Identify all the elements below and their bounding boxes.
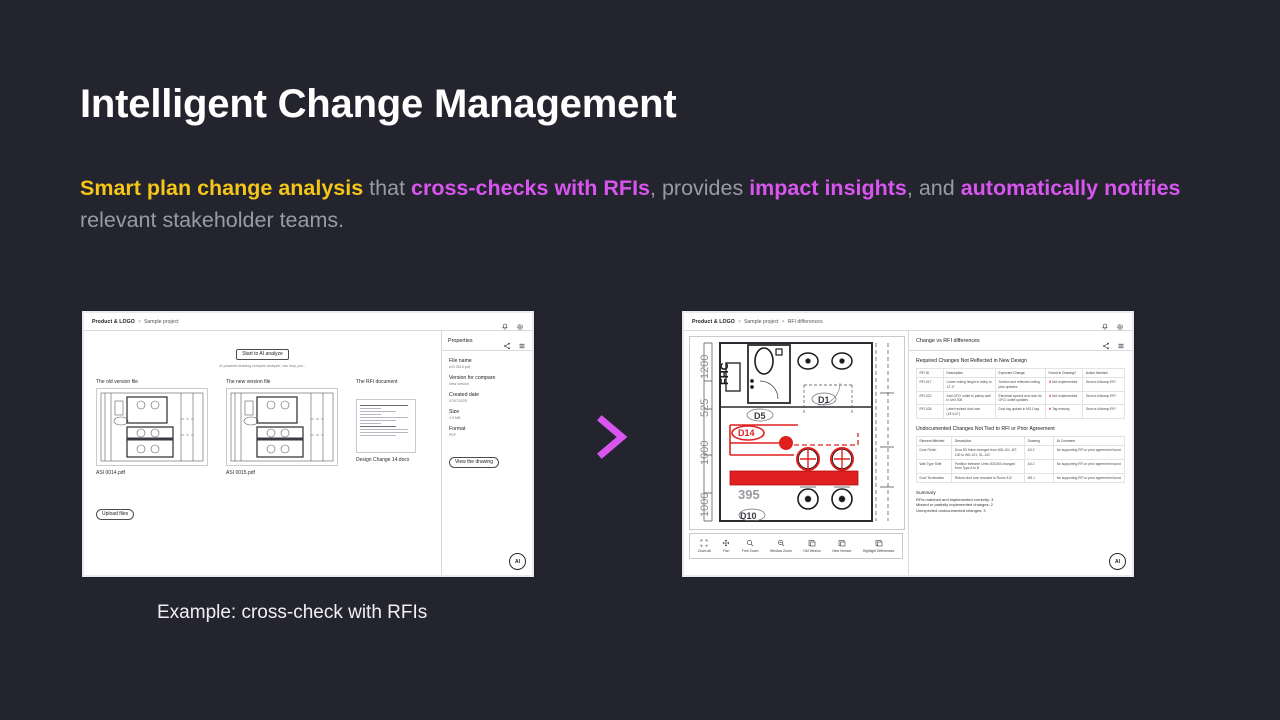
table-header-row: RFI ID Description Expected Change Found… <box>917 369 1125 378</box>
right-app-window: Product & LOGO > Sample project > RFI di… <box>682 311 1134 577</box>
cell-action: Send a followup RFI <box>1083 378 1125 392</box>
upload-files-button[interactable]: Upload files <box>96 509 134 520</box>
doc-line <box>360 411 396 412</box>
section-title-required-changes: Required Changes Not Reflected in New De… <box>916 358 1125 364</box>
cell-rfi-id: RFI-017 <box>917 378 944 392</box>
new-version-thumbnail[interactable] <box>226 388 338 466</box>
window-zoom-icon <box>777 539 785 547</box>
dim-1200: 1200 <box>699 355 711 379</box>
col-expected-change: Expected Change <box>996 369 1046 378</box>
svg-text:395: 395 <box>738 487 760 502</box>
analysis-panel-body: Required Changes Not Reflected in New De… <box>909 351 1132 513</box>
rfi-document-label: The RFI document <box>356 379 416 385</box>
cell-expected: Duct tag update in M3.1 tag <box>996 405 1046 419</box>
cell-drawing: A3.2 <box>1025 446 1054 460</box>
gear-icon[interactable] <box>1116 318 1124 326</box>
view-the-drawing-button[interactable]: View the drawing <box>449 457 499 468</box>
breadcrumb-sample-project[interactable]: Sample project <box>744 319 779 325</box>
cell-rfi-id: RFI-022 <box>917 391 944 405</box>
doc-line <box>360 420 396 421</box>
left-app-window: Product & LOGO > Sample project Start to… <box>82 311 534 577</box>
breadcrumb-separator-2: > <box>782 319 785 325</box>
highlight-diff-icon <box>875 539 883 547</box>
rfi-analysis-panel: Change vs RFI differences Required Chang… <box>909 331 1132 575</box>
menu-icon[interactable] <box>518 337 526 345</box>
left-brand-logo[interactable]: Product & LOGO <box>92 319 135 325</box>
col-rfi-id: RFI ID <box>917 369 944 378</box>
new-version-file-card[interactable]: The new version file <box>226 379 338 476</box>
doc-line <box>360 432 408 433</box>
old-version-icon <box>808 539 816 547</box>
svg-text:D5: D5 <box>754 411 766 421</box>
cell-found: ✕ Tag missing <box>1045 405 1082 419</box>
drawing-viewport-container: 1200 525 1000 1000 FHC D5 D1 D14 D10 395 <box>684 331 909 575</box>
property-value: PDF <box>449 433 525 437</box>
share-icon[interactable] <box>1102 337 1110 345</box>
table-row[interactable]: Wall Type Shift Partition between Units … <box>917 459 1125 473</box>
tool-pan[interactable]: Pan <box>722 539 730 553</box>
doc-line <box>360 429 408 430</box>
dim-525: 525 <box>699 399 711 417</box>
tool-label: Highlight Differences <box>863 549 894 553</box>
x-icon: ✕ <box>1048 394 1051 398</box>
found-text: Not Implemented <box>1052 394 1077 398</box>
chevron-right-icon <box>592 414 634 460</box>
col-found-in-drawing: Found in Drawing? <box>1045 369 1082 378</box>
left-window-body: Start to AI analyze AI powered drawing c… <box>84 331 532 575</box>
cell-drawing: M3.1 <box>1025 473 1054 482</box>
analyze-section: Start to AI analyze AI powered drawing c… <box>84 342 441 368</box>
cell-expected: Section and reflected ceiling plan updat… <box>996 378 1046 392</box>
pan-icon <box>722 539 730 547</box>
tool-label: New Version <box>832 549 851 553</box>
summary-line-unexpected: Unexpected undocumented changes: 3 <box>916 508 1125 513</box>
properties-header: Properties <box>442 331 532 351</box>
doc-line <box>360 435 396 436</box>
start-ai-analyze-button[interactable]: Start to AI analyze <box>236 349 289 360</box>
subtitle-part-that: that <box>363 176 411 200</box>
properties-list: File name ASI 0015.pdf Version for compa… <box>442 351 532 437</box>
free-zoom-icon <box>746 539 754 547</box>
properties-title: Properties <box>448 338 473 344</box>
tool-window-zoom[interactable]: Window Zoom <box>770 539 792 553</box>
property-key: Format <box>449 426 525 432</box>
new-version-filename: ASI 0015.pdf <box>226 470 338 476</box>
old-version-thumbnail[interactable] <box>96 388 208 466</box>
file-compare-row: The old version file <box>96 379 431 476</box>
share-icon[interactable] <box>503 337 511 345</box>
cell-expected: Electrical symbol and note for GFCI outl… <box>996 391 1046 405</box>
left-topbar-actions <box>501 318 524 326</box>
old-version-file-card[interactable]: The old version file <box>96 379 208 476</box>
table-row[interactable]: Duct Termination Return duct now reroute… <box>917 473 1125 482</box>
cell-description: Door D5 finish changed from WD-101, MT-1… <box>952 446 1025 460</box>
ai-badge[interactable]: AI <box>509 553 526 570</box>
rfi-document-thumbnail[interactable] <box>356 399 416 453</box>
tool-label: Window Zoom <box>770 549 792 553</box>
tool-label: Pan <box>723 549 729 553</box>
undocumented-changes-table: Element Affected Description Drawing AI … <box>916 436 1125 483</box>
subtitle-part-cross-checks: cross-checks with RFIs <box>411 176 650 200</box>
col-action-needed: Action Needed <box>1083 369 1125 378</box>
doc-line <box>360 423 381 424</box>
bell-icon[interactable] <box>1101 318 1109 326</box>
property-key: Version for compare <box>449 375 525 381</box>
cell-found: ✕ Not Implemented <box>1045 378 1082 392</box>
table-row[interactable]: Door Finish Door D5 finish changed from … <box>917 446 1125 460</box>
left-topbar: Product & LOGO > Sample project <box>84 313 532 331</box>
tool-label: Old Version <box>803 549 821 553</box>
doc-line <box>360 405 408 406</box>
tool-old-version[interactable]: Old Version <box>803 539 821 553</box>
cell-description: Add GFCI outlet to pantry wall in Unit 3… <box>944 391 996 405</box>
subtitle-part-impact-insights: impact insights <box>749 176 907 200</box>
new-version-icon <box>838 539 846 547</box>
tool-new-version[interactable]: New Version <box>832 539 851 553</box>
doc-line <box>360 408 381 409</box>
tool-highlight-differences[interactable]: Highlight Differences <box>863 539 894 553</box>
found-text: Tag missing <box>1052 407 1069 411</box>
svg-text:D14: D14 <box>738 428 755 438</box>
floorplan-drawing[interactable]: 1200 525 1000 1000 FHC D5 D1 D14 D10 395 <box>689 336 905 530</box>
cell-element: Door Finish <box>917 446 952 460</box>
rfi-document-filename: Design Change 14.docx <box>356 457 416 463</box>
table-row[interactable]: RFI-022 Add GFCI outlet to pantry wall i… <box>917 391 1125 405</box>
svg-text:FHC: FHC <box>719 362 731 385</box>
col-description: Description <box>944 369 996 378</box>
analysis-panel-title: Change vs RFI differences <box>916 338 980 344</box>
drawing-toolbar: Zoom all Pan Free Zoom Window Zoom Old V… <box>689 533 903 559</box>
subtitle-part-and: , and <box>907 176 961 200</box>
gear-icon[interactable] <box>516 318 524 326</box>
cell-found: ✕ Not Implemented <box>1045 391 1082 405</box>
breadcrumb-separator: > <box>738 319 741 325</box>
subtitle: Smart plan change analysis that cross-ch… <box>80 172 1220 236</box>
doc-line <box>360 417 408 418</box>
subtitle-part-smart-plan: Smart plan change analysis <box>80 176 363 200</box>
x-icon: ✕ <box>1048 407 1051 411</box>
subtitle-part-teams: relevant stakeholder teams. <box>80 208 344 232</box>
properties-panel: Properties File name ASI 0015.pdf Versio… <box>442 331 532 575</box>
subtitle-part-auto-notifies: automatically notifies <box>961 176 1181 200</box>
table-row[interactable]: RFI-017 Lower ceiling height in lobby to… <box>917 378 1125 392</box>
property-value: 07/07/2025 <box>449 399 525 403</box>
zoom-extents-icon <box>700 539 708 547</box>
svg-text:D1: D1 <box>818 395 830 405</box>
ai-badge[interactable]: AI <box>1109 553 1126 570</box>
breadcrumb-rfi-differences[interactable]: RFI differences <box>788 319 823 325</box>
table-row[interactable]: RFI-028 Label revised duct size (18"x12"… <box>917 405 1125 419</box>
property-value: 2.5 MB <box>449 416 525 420</box>
doc-line <box>360 426 396 427</box>
cell-description: Label revised duct size (18"x12") <box>944 405 996 419</box>
right-brand-logo[interactable]: Product & LOGO <box>692 319 735 325</box>
breadcrumb-sample-project[interactable]: Sample project <box>144 319 179 325</box>
col-element-affected: Element Affected <box>917 437 952 446</box>
section-title-undocumented-changes: Undocumented Changes Not Tied to RFI or … <box>916 426 1125 432</box>
summary-title: Summary <box>916 490 1125 495</box>
tool-label: Free Zoom <box>742 549 759 553</box>
properties-header-actions <box>503 337 526 345</box>
cell-rfi-id: RFI-028 <box>917 405 944 419</box>
tool-zoom-all[interactable]: Zoom all <box>698 539 711 553</box>
col-drawing: Drawing <box>1025 437 1054 446</box>
found-text: Not Implemented <box>1052 380 1077 384</box>
property-value: New version <box>449 382 525 386</box>
analyze-hint-text: AI powered drawing compare analyzer, can… <box>84 364 441 368</box>
breadcrumb-separator: > <box>138 319 141 325</box>
rfi-document-card[interactable]: The RFI document Design C <box>356 379 416 476</box>
page-title: Intelligent Change Management <box>80 82 677 127</box>
cell-description: Partition between Units 303/304 changed … <box>952 459 1025 473</box>
dim-1000: 1000 <box>699 441 711 465</box>
menu-icon[interactable] <box>1117 337 1125 345</box>
left-main-canvas: Start to AI analyze AI powered drawing c… <box>84 331 442 575</box>
property-key: Created date <box>449 392 525 398</box>
table-header-row: Element Affected Description Drawing AI … <box>917 437 1125 446</box>
example-caption: Example: cross-check with RFIs <box>157 602 427 624</box>
doc-line <box>360 414 381 415</box>
property-value: ASI 0015.pdf <box>449 365 525 369</box>
col-ai-comment: AI Comment <box>1054 437 1125 446</box>
right-window-body: 1200 525 1000 1000 FHC D5 D1 D14 D10 395 <box>684 331 1132 575</box>
cell-action: Send a followup RFI <box>1083 405 1125 419</box>
property-key: Size <box>449 409 525 415</box>
analysis-panel-header: Change vs RFI differences <box>909 331 1132 351</box>
cell-description: Return duct now rerouted to Room 312 <box>952 473 1025 482</box>
right-topbar-actions <box>1101 318 1124 326</box>
bell-icon[interactable] <box>501 318 509 326</box>
required-changes-table: RFI ID Description Expected Change Found… <box>916 368 1125 419</box>
cell-description: Lower ceiling height in lobby to 12'-0" <box>944 378 996 392</box>
col-description: Description <box>952 437 1025 446</box>
cell-element: Wall Type Shift <box>917 459 952 473</box>
cell-ai-comment: No supporting RFI or prior agreement fou… <box>1054 459 1125 473</box>
x-icon: ✕ <box>1048 380 1051 384</box>
property-key: File name <box>449 358 525 364</box>
old-version-label: The old version file <box>96 379 208 385</box>
cell-element: Duct Termination <box>917 473 952 482</box>
cell-ai-comment: No supporting RFI or prior agreement fou… <box>1054 473 1125 482</box>
analysis-header-actions <box>1102 337 1125 345</box>
cell-drawing: A3.2 <box>1025 459 1054 473</box>
cell-action: Send a followup RFI <box>1083 391 1125 405</box>
tool-label: Zoom all <box>698 549 711 553</box>
old-version-filename: ASI 0014.pdf <box>96 470 208 476</box>
new-version-label: The new version file <box>226 379 338 385</box>
dim-1000-b: 1000 <box>699 493 711 517</box>
subtitle-part-provides: , provides <box>650 176 749 200</box>
tool-free-zoom[interactable]: Free Zoom <box>742 539 759 553</box>
svg-text:D10: D10 <box>740 511 757 521</box>
cell-ai-comment: No supporting RFI or prior agreement fou… <box>1054 446 1125 460</box>
right-topbar: Product & LOGO > Sample project > RFI di… <box>684 313 1132 331</box>
